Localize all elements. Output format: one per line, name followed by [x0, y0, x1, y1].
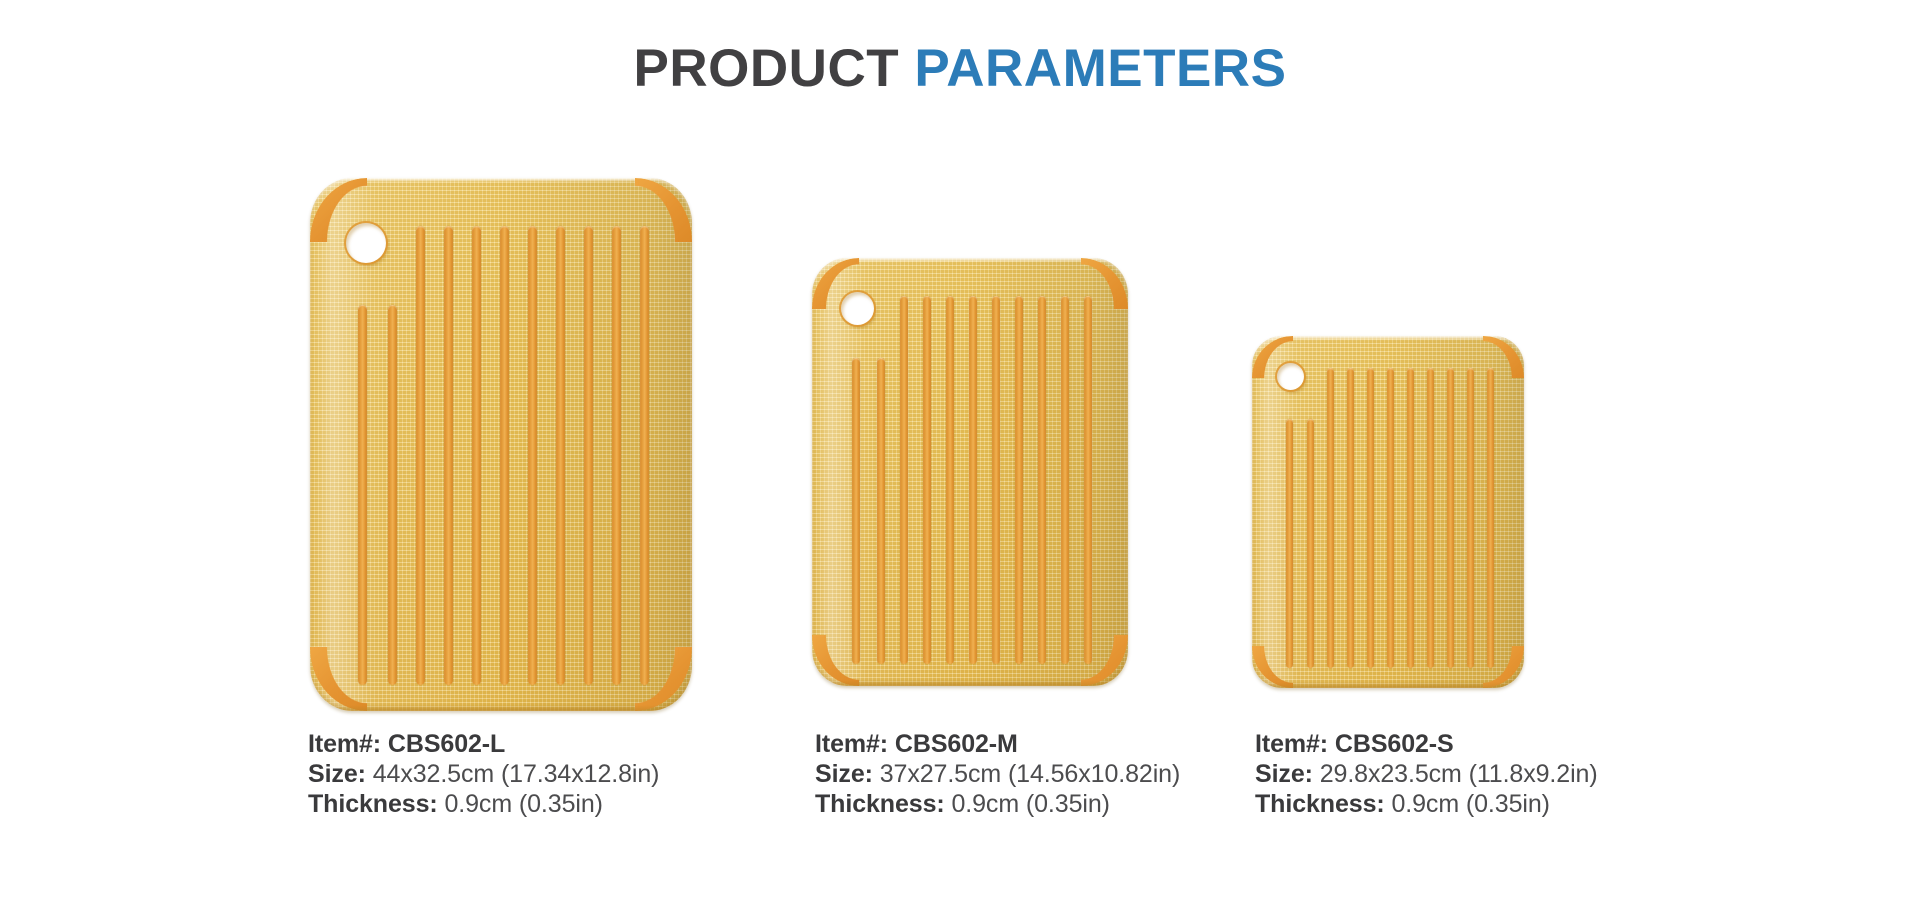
spec-thickness-label: Thickness: [308, 790, 438, 818]
spec-size-label: Size: [308, 760, 366, 788]
spec-size-value: 37x27.5cm (14.56x10.82in) [880, 760, 1180, 788]
groove-short [1286, 419, 1293, 668]
spec-item-label: Item#: [1255, 730, 1328, 758]
groove-tall [528, 226, 537, 685]
spec-thickness-label: Thickness: [1255, 790, 1385, 818]
spec-thickness-value: 0.9cm (0.35in) [951, 790, 1109, 818]
product-gallery: Item#: CBS602-L Size: 44x32.5cm (17.34x1… [0, 0, 1920, 909]
groove-tall [556, 226, 565, 685]
cutting-board-small-image [1252, 336, 1524, 688]
groove-tall [1347, 368, 1354, 668]
product-specs-medium: Item#: CBS602-M Size: 37x27.5cm (14.56x1… [815, 729, 1180, 819]
groove-tall [584, 226, 593, 685]
spec-size-value: 29.8x23.5cm (11.8x9.2in) [1320, 760, 1598, 788]
spec-item-line: Item#: CBS602-M [815, 729, 1180, 759]
groove-tall [500, 226, 509, 685]
groove-short [358, 305, 367, 685]
spec-item-line: Item#: CBS602-S [1255, 729, 1598, 759]
hang-hole [1277, 363, 1304, 390]
groove-tall [1447, 368, 1454, 668]
product-small [1252, 336, 1524, 688]
groove-tall [1367, 368, 1374, 668]
spec-item-line: Item#: CBS602-L [308, 729, 659, 759]
spec-item-label: Item#: [308, 730, 381, 758]
cutting-board-medium-image [812, 258, 1128, 686]
groove-tall [1487, 368, 1494, 668]
groove-tall [1407, 368, 1414, 668]
groove-tall [900, 296, 908, 664]
groove-tall [969, 296, 977, 664]
spec-size-value: 44x32.5cm (17.34x12.8in) [373, 760, 660, 788]
spec-size-line: Size: 44x32.5cm (17.34x12.8in) [308, 759, 659, 789]
product-medium [812, 258, 1128, 686]
groove-tall [1015, 296, 1023, 664]
spec-size-line: Size: 29.8x23.5cm (11.8x9.2in) [1255, 759, 1598, 789]
product-specs-small: Item#: CBS602-S Size: 29.8x23.5cm (11.8x… [1255, 729, 1598, 819]
hang-hole [346, 223, 386, 263]
cutting-board-large-image [310, 178, 692, 711]
groove-tall [640, 226, 649, 685]
spec-size-label: Size: [815, 760, 873, 788]
groove-short [852, 358, 860, 664]
groove-tall [946, 296, 954, 664]
product-large [310, 178, 692, 711]
groove-short [388, 305, 397, 685]
groove-tall [612, 226, 621, 685]
product-specs-large: Item#: CBS602-L Size: 44x32.5cm (17.34x1… [308, 729, 659, 819]
spec-size-line: Size: 37x27.5cm (14.56x10.82in) [815, 759, 1180, 789]
spec-item-value: CBS602-S [1335, 730, 1454, 758]
groove-tall [416, 226, 425, 685]
spec-item-label: Item#: [815, 730, 888, 758]
groove-tall [992, 296, 1000, 664]
groove-short [877, 358, 885, 664]
spec-thickness-line: Thickness: 0.9cm (0.35in) [815, 789, 1180, 819]
groove-tall [1038, 296, 1046, 664]
groove-tall [1061, 296, 1069, 664]
spec-thickness-line: Thickness: 0.9cm (0.35in) [1255, 789, 1598, 819]
spec-thickness-label: Thickness: [815, 790, 945, 818]
groove-tall [1387, 368, 1394, 668]
groove-tall [1327, 368, 1334, 668]
groove-tall [923, 296, 931, 664]
groove-tall [444, 226, 453, 685]
groove-tall [472, 226, 481, 685]
groove-tall [1467, 368, 1474, 668]
spec-item-value: CBS602-L [388, 730, 505, 758]
spec-item-value: CBS602-M [895, 730, 1018, 758]
spec-thickness-line: Thickness: 0.9cm (0.35in) [308, 789, 659, 819]
groove-tall [1427, 368, 1434, 668]
spec-thickness-value: 0.9cm (0.35in) [1391, 790, 1549, 818]
hang-hole [841, 292, 874, 325]
groove-tall [1084, 296, 1092, 664]
spec-thickness-value: 0.9cm (0.35in) [444, 790, 602, 818]
groove-short [1307, 419, 1314, 668]
spec-size-label: Size: [1255, 760, 1313, 788]
